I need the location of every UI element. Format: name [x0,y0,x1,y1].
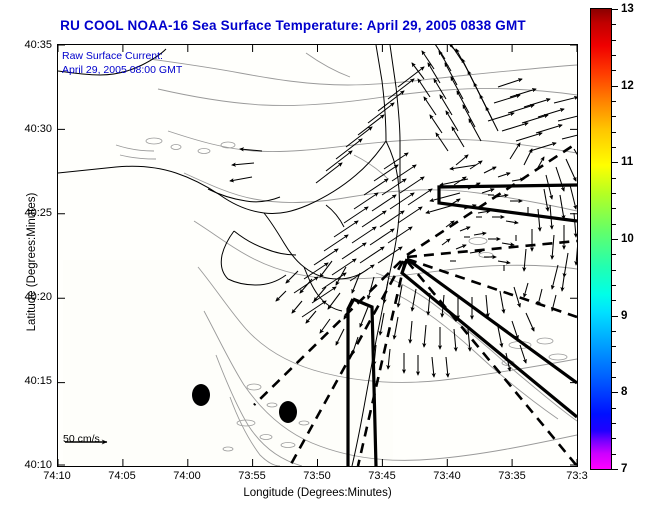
colorbar-minor-tick [612,408,616,409]
temperature-colorbar[interactable] [590,8,612,470]
colorbar-minor-tick [612,70,616,71]
colorbar-minor-tick [612,254,616,255]
x-tick-label-2: 74:00 [173,470,201,482]
colorbar-minor-tick [612,147,616,148]
map-plot-area[interactable]: Raw Surface Current: April 29, 2005 08:0… [57,44,578,467]
colorbar-label-12: 12 [621,80,634,92]
y-tick-label-0: 40:35 [24,39,52,51]
vector-scale-bar: 50 cm/s [63,433,100,445]
colorbar-minor-tick [612,40,616,41]
colorbar-minor-tick [612,270,616,271]
colorbar-tick-12 [612,86,618,87]
colorbar-tick-11 [612,162,618,163]
raw-current-annotation-line2: April 29, 2005 08:00 GMT [62,64,182,78]
colorbar-label-10: 10 [621,233,634,245]
y-axis-title: Latitude (Degrees:Minutes) [26,162,38,362]
x-tick-label-1: 74:05 [108,470,136,482]
raw-current-annotation-line1: Raw Surface Current: [62,50,182,64]
x-tick-label-3: 73:55 [238,470,266,482]
colorbar-minor-tick [612,438,616,439]
x-tick-label-4: 73:50 [303,470,331,482]
map-graphics [58,45,577,466]
colorbar-minor-tick [612,423,616,424]
x-tick-label-7: 73:35 [498,470,526,482]
colorbar-tick-7 [612,469,618,470]
colorbar-label-13: 13 [621,3,634,15]
y-tick-label-1: 40:30 [24,123,52,135]
sst-map-figure: RU COOL NOAA-16 Sea Surface Temperature:… [0,0,651,515]
colorbar-minor-tick [612,55,616,56]
colorbar-label-8: 8 [621,386,627,398]
colorbar-minor-tick [612,454,616,455]
colorbar-minor-tick [612,208,616,209]
colorbar-minor-tick [612,193,616,194]
colorbar-minor-tick [612,346,616,347]
raw-current-annotation: Raw Surface Current: April 29, 2005 08:0… [62,50,182,77]
x-tick-label-0: 74:10 [43,470,71,482]
colorbar-minor-tick [612,178,616,179]
colorbar-tick-10 [612,239,618,240]
colorbar-minor-tick [612,116,616,117]
x-axis-title: Longitude (Degrees:Minutes) [57,487,578,499]
colorbar-minor-tick [612,331,616,332]
colorbar-tick-8 [612,392,618,393]
station-marker-1[interactable] [192,384,210,406]
y-tick-label-4: 40:15 [24,375,52,387]
colorbar-minor-tick [612,377,616,378]
x-tick-label-6: 73:40 [433,470,461,482]
station-marker-2[interactable] [279,401,297,423]
colorbar-tick-13 [612,9,618,10]
colorbar-minor-tick [612,101,616,102]
colorbar-label-11: 11 [621,156,633,168]
colorbar-minor-tick [612,132,616,133]
figure-title: RU COOL NOAA-16 Sea Surface Temperature:… [0,18,586,33]
colorbar-minor-tick [612,224,616,225]
colorbar-minor-tick [612,24,616,25]
colorbar-tick-9 [612,316,618,317]
vector-scale-bar-arrow [63,435,119,449]
colorbar-label-7: 7 [621,463,627,475]
colorbar-minor-tick [612,285,616,286]
x-tick-label-8: 73:3 [566,470,587,482]
colorbar-minor-tick [612,300,616,301]
colorbar-minor-tick [612,362,616,363]
colorbar-label-9: 9 [621,310,627,322]
x-tick-label-5: 73:45 [368,470,396,482]
